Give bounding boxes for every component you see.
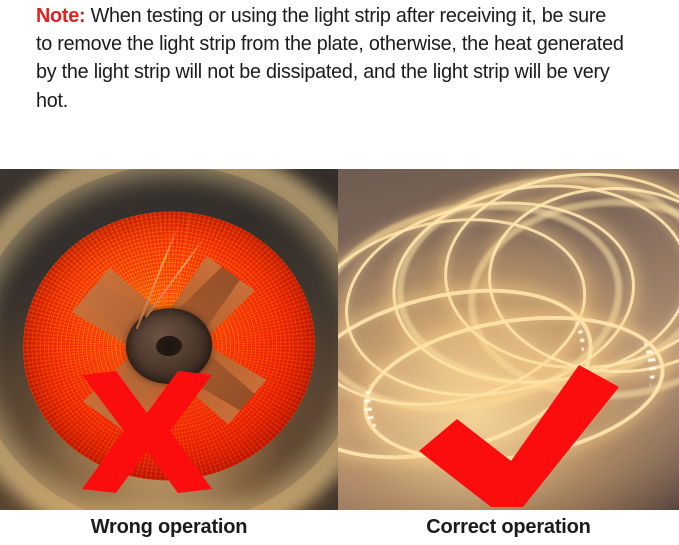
led-strip-loose-coils [338,169,679,510]
note-label: Note: [36,4,85,27]
caption-correct-operation: Correct operation [338,510,679,545]
led-strip-reel [0,169,338,510]
note-paragraph: Note: When testing or using the light st… [36,2,625,115]
caption-wrong-operation: Wrong operation [0,510,338,545]
panel-wrong-operation [0,169,338,510]
note-text: When testing or using the light strip af… [36,4,624,112]
caption-row: Wrong operation Correct operation [0,510,679,545]
panel-correct-operation [338,169,679,510]
comparison-image-strip [0,169,679,510]
